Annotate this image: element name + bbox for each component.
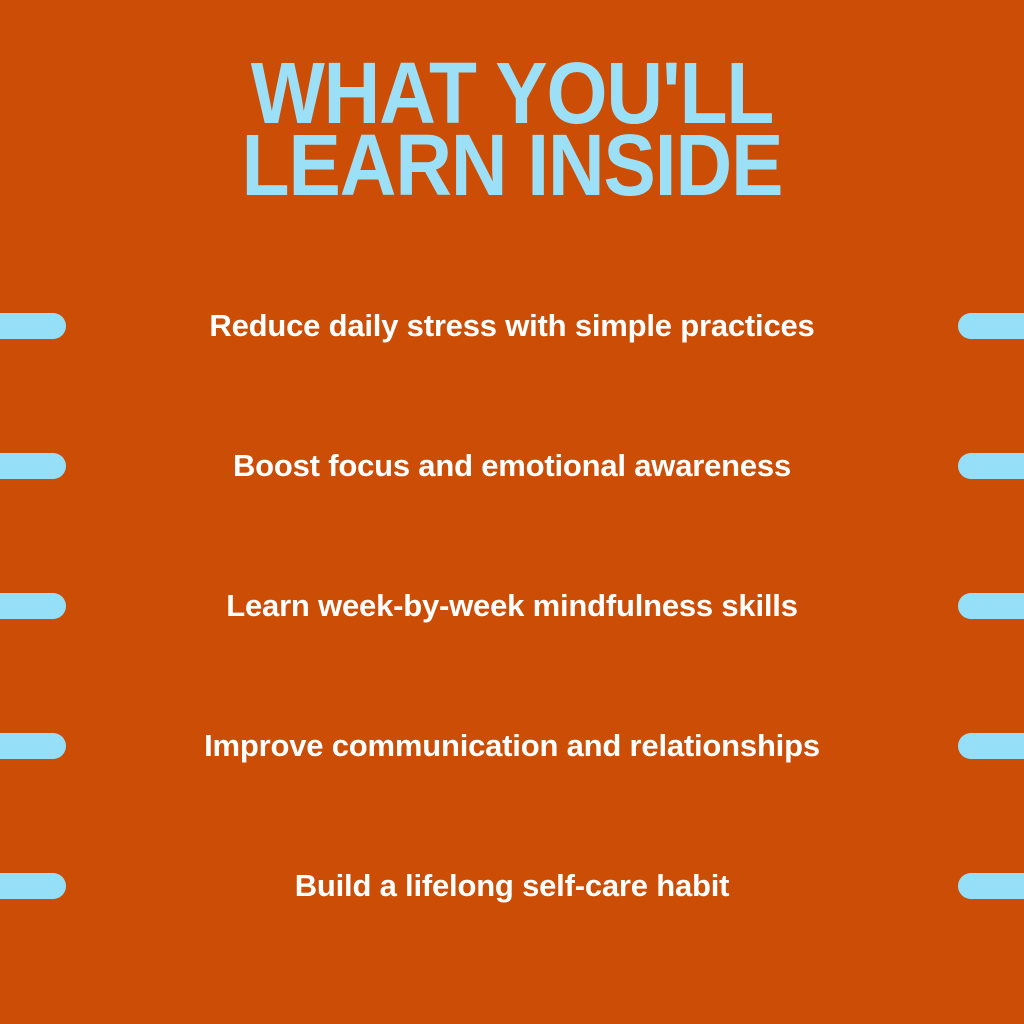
pill-bar-right-icon bbox=[958, 733, 1024, 759]
pill-bar-left-icon bbox=[0, 313, 66, 339]
page-title-line-2: LEARN INSIDE bbox=[0, 130, 1024, 201]
benefits-list: Reduce daily stress with simple practice… bbox=[0, 262, 1024, 902]
pill-bar-right-icon bbox=[958, 453, 1024, 479]
pill-bar-left-icon bbox=[0, 873, 66, 899]
list-item-label: Reduce daily stress with simple practice… bbox=[209, 308, 814, 344]
list-item-label: Learn week-by-week mindfulness skills bbox=[226, 588, 798, 624]
pill-bar-left-icon bbox=[0, 593, 66, 619]
list-item: Learn week-by-week mindfulness skills bbox=[0, 542, 1024, 670]
pill-bar-right-icon bbox=[958, 313, 1024, 339]
pill-bar-right-icon bbox=[958, 593, 1024, 619]
list-item: Improve communication and relationships bbox=[0, 682, 1024, 810]
pill-bar-left-icon bbox=[0, 733, 66, 759]
list-item: Build a lifelong self-care habit bbox=[0, 822, 1024, 950]
list-item-label: Improve communication and relationships bbox=[204, 728, 820, 764]
list-item-label: Boost focus and emotional awareness bbox=[233, 448, 791, 484]
pill-bar-left-icon bbox=[0, 453, 66, 479]
promo-poster: WHAT YOU'LL LEARN INSIDE Reduce daily st… bbox=[0, 0, 1024, 1024]
list-item-label: Build a lifelong self-care habit bbox=[295, 868, 730, 904]
page-title: WHAT YOU'LL LEARN INSIDE bbox=[0, 58, 1024, 190]
list-item: Reduce daily stress with simple practice… bbox=[0, 262, 1024, 390]
pill-bar-right-icon bbox=[958, 873, 1024, 899]
list-item: Boost focus and emotional awareness bbox=[0, 402, 1024, 530]
